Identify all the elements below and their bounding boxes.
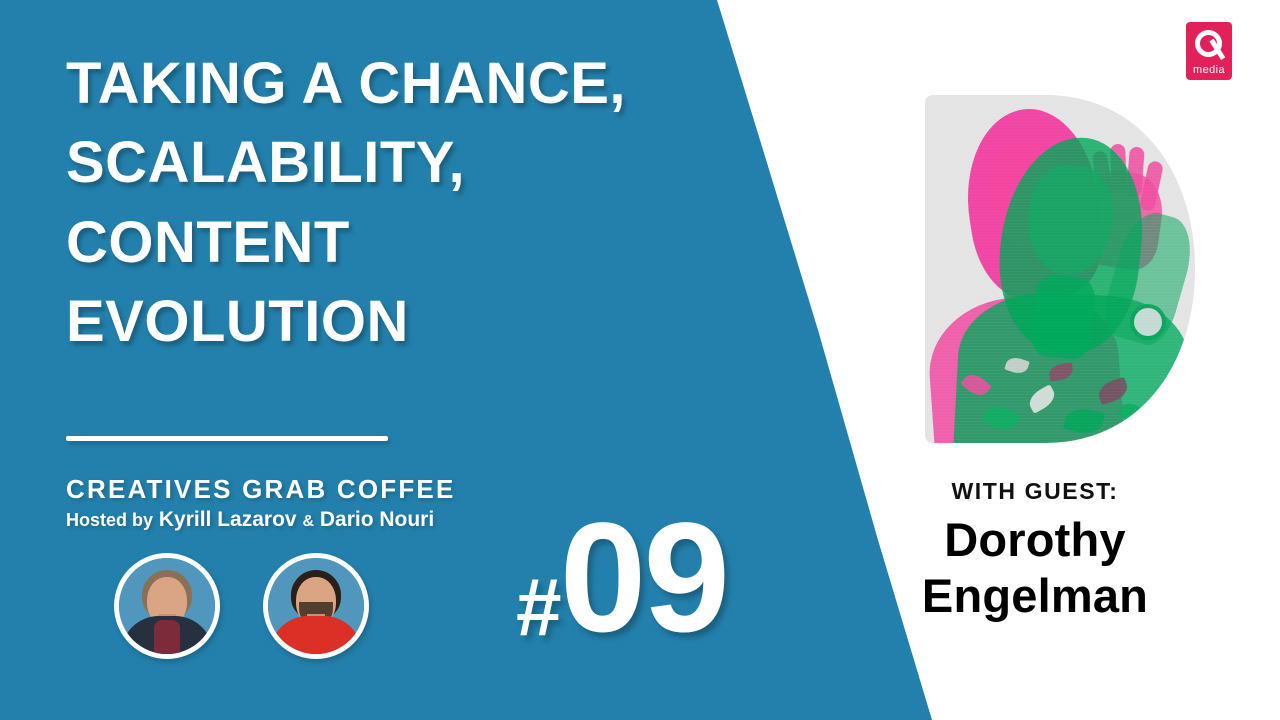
page-title: TAKING A CHANCE, SCALABILITY, CONTENT EV… bbox=[66, 44, 726, 362]
title-line-3: CONTENT bbox=[66, 203, 726, 282]
title-line-1: TAKING A CHANCE, bbox=[66, 44, 726, 123]
logo-wordmark: media bbox=[1186, 64, 1232, 76]
guest-photo bbox=[925, 95, 1195, 443]
guest-last-name: Engelman bbox=[790, 568, 1280, 624]
title-line-4: EVOLUTION bbox=[66, 282, 726, 361]
guest-first-name: Dorothy bbox=[790, 512, 1280, 568]
title-divider bbox=[66, 436, 388, 441]
guest-name: Dorothy Engelman bbox=[0, 512, 1280, 625]
qmedia-logo: media bbox=[1186, 22, 1232, 80]
with-guest-label: WITH GUEST: bbox=[0, 478, 1280, 505]
episode-thumbnail: TAKING A CHANCE, SCALABILITY, CONTENT EV… bbox=[0, 0, 1280, 720]
title-line-2: SCALABILITY, bbox=[66, 123, 726, 202]
photo-grain-overlay bbox=[925, 95, 1195, 443]
shirt-shape bbox=[154, 620, 180, 654]
